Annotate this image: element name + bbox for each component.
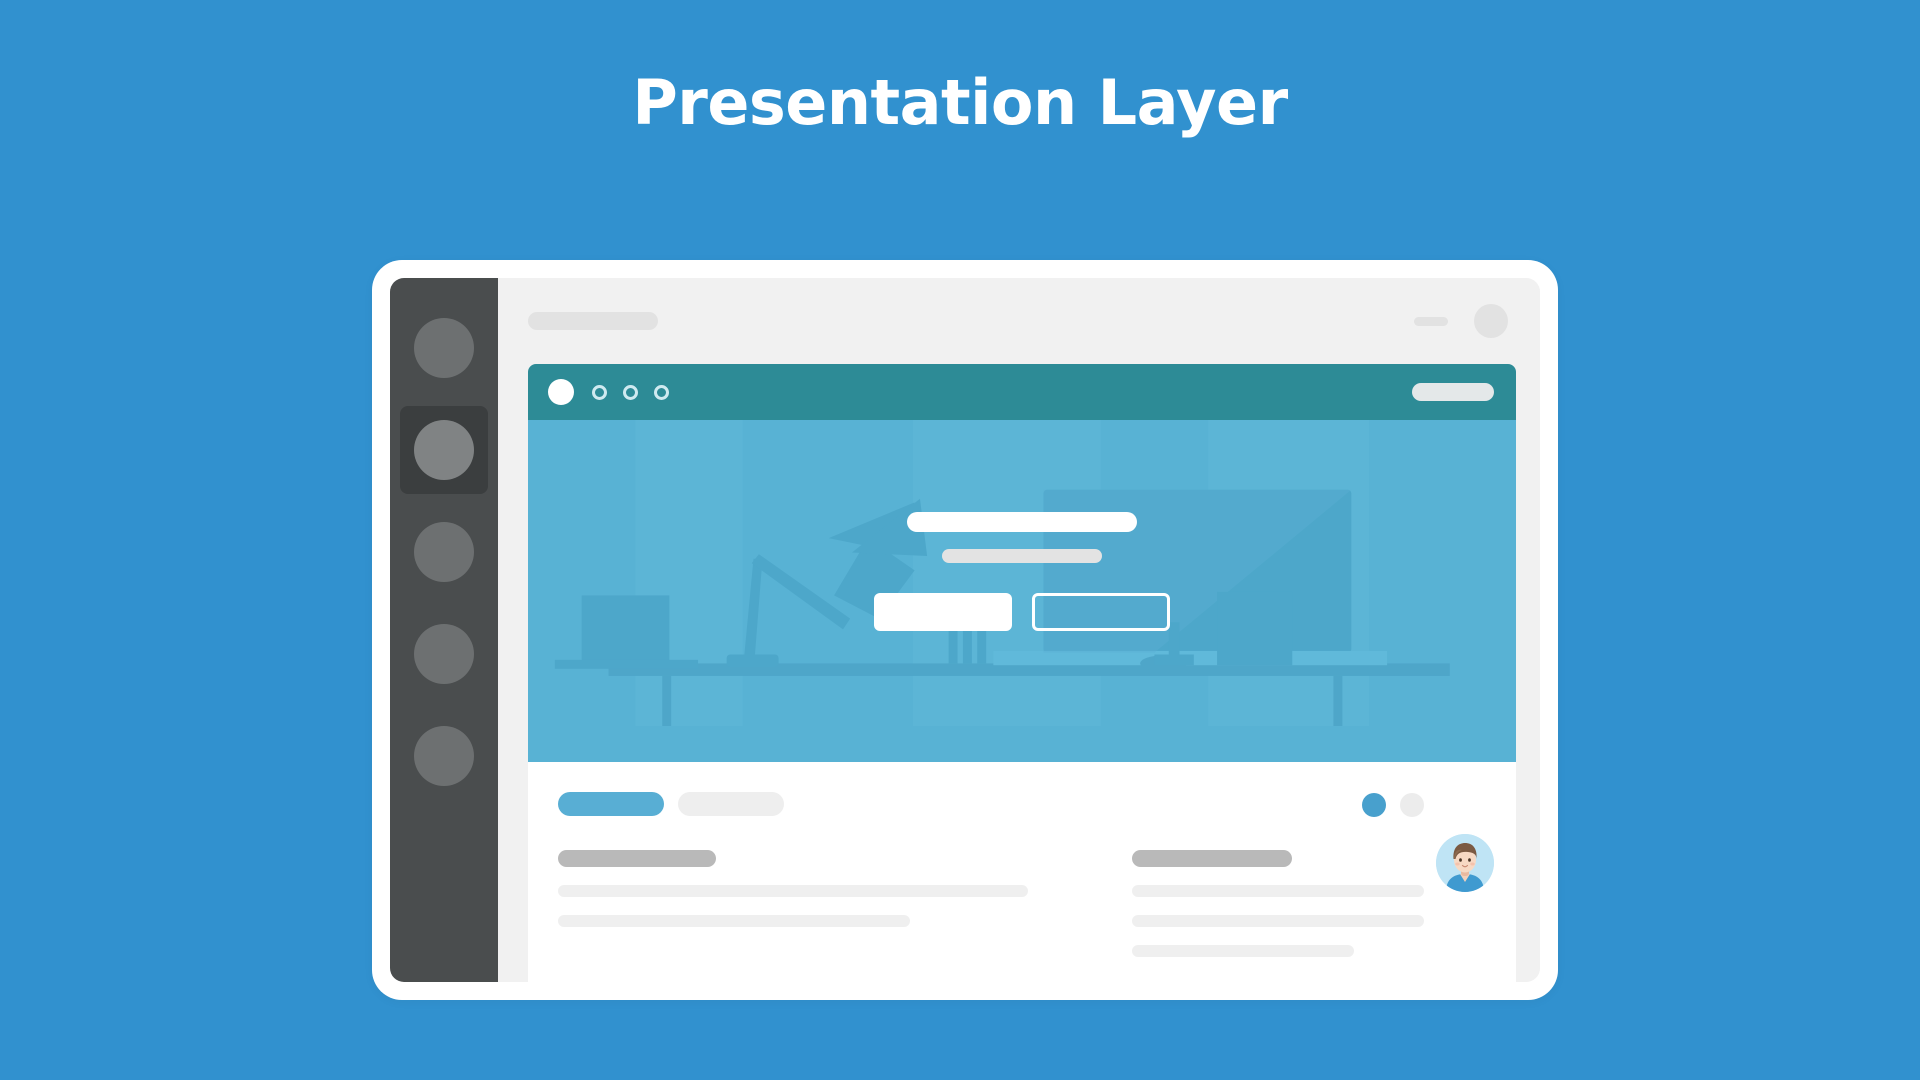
sidebar-item-5[interactable]: [400, 712, 488, 800]
tab-outline-circle-icon[interactable]: [654, 385, 669, 400]
content-tab-1[interactable]: [558, 792, 664, 816]
hero-cta-group: [874, 593, 1170, 631]
tablet-device-frame: [372, 260, 1558, 1000]
nav-circle-icon: [414, 318, 474, 378]
app-topbar: [498, 278, 1540, 364]
page-title: Presentation Layer: [0, 72, 1920, 134]
content-column-right: [1132, 850, 1472, 957]
carousel-dot-2[interactable]: [1400, 793, 1424, 817]
sidebar-item-2[interactable]: [400, 406, 488, 494]
sidebar-item-1[interactable]: [400, 304, 488, 392]
right-text-line-3: [1132, 945, 1354, 957]
nav-circle-icon: [414, 624, 474, 684]
hero-subline-placeholder: [942, 549, 1102, 563]
content-tab-2[interactable]: [678, 792, 784, 816]
nav-circle-icon: [414, 726, 474, 786]
avatar[interactable]: [1432, 830, 1498, 896]
carousel-dots: [1362, 793, 1424, 817]
nav-circle-icon: [414, 522, 474, 582]
tab-filled-circle-icon[interactable]: [548, 379, 574, 405]
content-column-left: [558, 850, 1128, 957]
hero-banner: [528, 420, 1516, 762]
sidebar-item-3[interactable]: [400, 508, 488, 596]
left-text-line-1: [558, 885, 1028, 897]
left-heading-placeholder: [558, 850, 716, 867]
left-text-line-2: [558, 915, 910, 927]
user-avatar-icon: [1436, 834, 1494, 892]
app-main-panel: [498, 278, 1540, 982]
browser-tabstrip: [528, 364, 1516, 420]
tab-outline-circle-icon[interactable]: [623, 385, 638, 400]
right-heading-placeholder: [1132, 850, 1292, 867]
hero-secondary-button[interactable]: [1032, 593, 1170, 631]
sidebar-item-4[interactable]: [400, 610, 488, 698]
window-circle-icon[interactable]: [1474, 304, 1508, 338]
hero-headline-placeholder: [907, 512, 1137, 532]
right-text-line-2: [1132, 915, 1424, 927]
tablet-screen: [390, 278, 1540, 982]
page-content: [528, 762, 1516, 982]
hero-content: [822, 512, 1222, 631]
app-logo-placeholder: [528, 312, 658, 330]
content-tabs: [558, 792, 1486, 816]
hero-primary-button[interactable]: [874, 593, 1012, 631]
nav-circle-icon: [414, 420, 474, 480]
browser-window: [528, 364, 1516, 982]
carousel-dot-1[interactable]: [1362, 793, 1386, 817]
minimize-dash-icon[interactable]: [1414, 317, 1448, 326]
content-columns: [558, 850, 1486, 957]
app-sidebar: [390, 278, 498, 982]
window-controls: [1414, 304, 1508, 338]
tab-outline-circle-icon[interactable]: [592, 385, 607, 400]
address-bar[interactable]: [1412, 383, 1494, 401]
right-text-line-1: [1132, 885, 1424, 897]
